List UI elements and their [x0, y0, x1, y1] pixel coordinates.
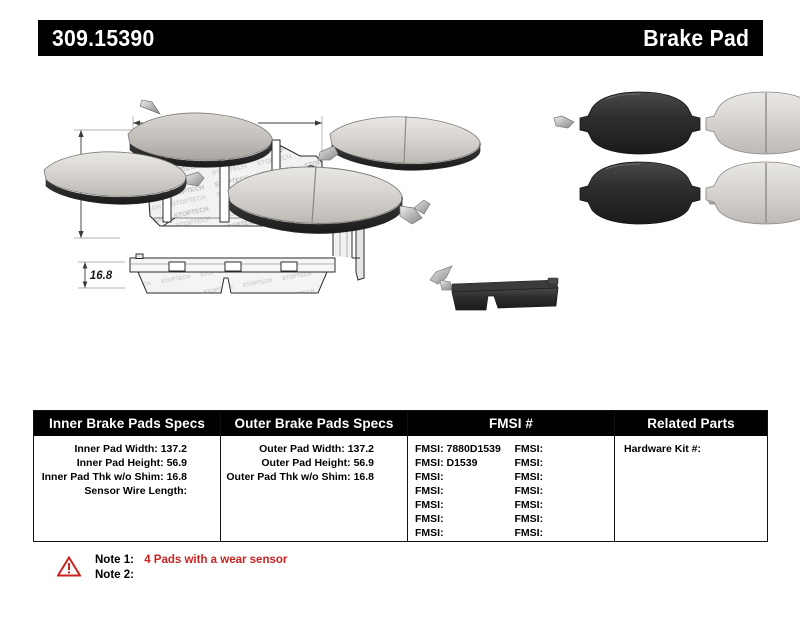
fmsi-row: FMSI:	[515, 484, 615, 498]
photo-flat-pad-dark-2	[580, 162, 726, 224]
part-number: 309.15390	[52, 25, 155, 52]
product-photo-flat-pads	[554, 92, 800, 224]
fmsi-row: FMSI:	[415, 512, 515, 526]
column-body-inner-specs: Inner Pad Width: 137.2 Inner Pad Height:…	[34, 436, 220, 498]
note-1-row: Note 1: 4 Pads with a wear sensor	[95, 554, 287, 566]
spec-row: Inner Pad Width: 137.2	[34, 442, 220, 456]
spec-row: Outer Pad Width: 137.2	[221, 442, 407, 456]
photo-pad-4	[228, 166, 430, 233]
column-body-fmsi: FMSI: 7880D1539 FMSI: D1539 FMSI: FMSI: …	[408, 436, 614, 540]
thickness-dimension-label: 16.8	[90, 270, 113, 282]
note-2-label: Note 2:	[95, 569, 141, 581]
fmsi-row: FMSI:	[515, 456, 615, 470]
table-column-fmsi: FMSI # FMSI: 7880D1539 FMSI: D1539 FMSI:…	[408, 411, 615, 541]
photo-flat-pad-light-2	[706, 162, 800, 224]
column-header-inner-specs: Inner Brake Pads Specs	[34, 411, 220, 436]
column-header-related-parts: Related Parts	[615, 411, 767, 436]
spec-row: Inner Pad Thk w/o Shim: 16.8	[34, 470, 220, 484]
fmsi-sub-column-right: FMSI: FMSI: FMSI: FMSI: FMSI:	[515, 442, 615, 540]
side-backing-plate	[130, 254, 335, 272]
fmsi-row: FMSI:	[515, 470, 615, 484]
product-type-label: Brake Pad	[643, 25, 749, 52]
column-body-outer-specs: Outer Pad Width: 137.2 Outer Pad Height:…	[221, 436, 407, 484]
note-1-value: 4 Pads with a wear sensor	[144, 554, 287, 566]
fmsi-row: FMSI:	[415, 526, 515, 540]
photo-flat-pad-light-1	[706, 92, 800, 154]
fmsi-row: FMSI:	[515, 442, 615, 456]
fmsi-row: FMSI: D1539	[415, 456, 515, 470]
column-body-related-parts: Hardware Kit #:	[615, 436, 767, 456]
fmsi-row: FMSI:	[415, 484, 515, 498]
table-column-inner-specs: Inner Brake Pads Specs Inner Pad Width: …	[34, 411, 221, 541]
fmsi-row: FMSI: 7880D1539	[415, 442, 515, 456]
spec-row: Inner Pad Height: 56.9	[34, 456, 220, 470]
related-part-row: Hardware Kit #:	[624, 442, 767, 456]
photo-flat-pad-dark-1	[554, 92, 700, 154]
spec-row: Outer Pad Thk w/o Shim: 16.8	[221, 470, 407, 484]
fmsi-sub-column-left: FMSI: 7880D1539 FMSI: D1539 FMSI: FMSI: …	[415, 442, 515, 540]
header-bar: 309.15390 Brake Pad	[38, 20, 763, 56]
fmsi-row: FMSI:	[515, 526, 615, 540]
note-2-row: Note 2:	[95, 569, 141, 581]
side-friction-block	[138, 272, 327, 293]
photo-pad-3	[318, 116, 480, 170]
specifications-table: Inner Brake Pads Specs Inner Pad Width: …	[33, 410, 768, 542]
warning-triangle-icon	[57, 556, 81, 577]
column-header-outer-specs: Outer Brake Pads Specs	[221, 411, 407, 436]
table-column-related-parts: Related Parts Hardware Kit #:	[615, 411, 767, 541]
note-1-label: Note 1:	[95, 554, 141, 566]
fmsi-row: FMSI:	[415, 498, 515, 512]
product-illustration-area: STOPTECH STOPTECH STOPTECH	[0, 66, 800, 396]
column-header-fmsi: FMSI #	[408, 411, 614, 436]
spec-row: Outer Pad Height: 56.9	[221, 456, 407, 470]
fmsi-row: FMSI:	[415, 470, 515, 484]
product-photo-side-view	[430, 266, 558, 310]
table-column-outer-specs: Outer Brake Pads Specs Outer Pad Width: …	[221, 411, 408, 541]
spec-row: Sensor Wire Length:	[34, 484, 220, 498]
fmsi-row: FMSI:	[515, 498, 615, 512]
fmsi-row: FMSI:	[515, 512, 615, 526]
notes-section: Note 1: 4 Pads with a wear sensor Note 2…	[53, 552, 453, 592]
